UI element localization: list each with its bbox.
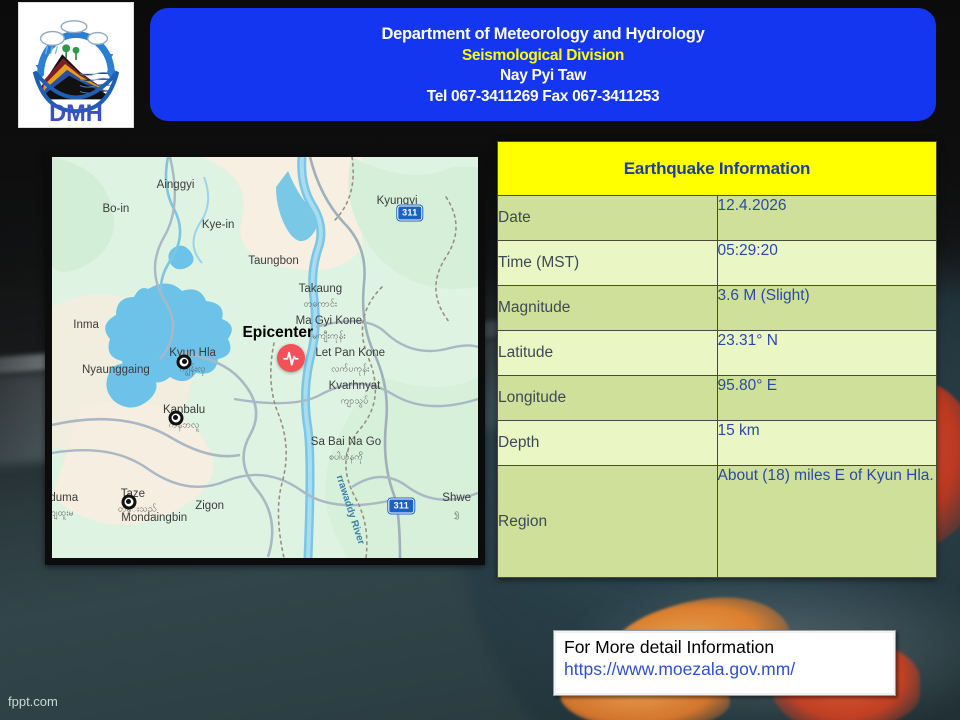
- town-marker-icon[interactable]: [177, 354, 192, 369]
- header-banner: Department of Meteorology and Hydrology …: [150, 8, 936, 121]
- info-table-title: Earthquake Information: [498, 142, 937, 196]
- info-label-date: Date: [498, 196, 718, 241]
- moezala-link[interactable]: https://www.moezala.gov.mm/: [564, 659, 795, 679]
- table-row: Latitude23.31° N: [498, 331, 937, 376]
- table-row: Longitude95.80° E: [498, 376, 937, 421]
- info-value-magnitude: 3.6 M (Slight): [717, 286, 937, 331]
- map-canvas[interactable]: Epicenter rrawaddy River AinggyiBo-inKye…: [52, 157, 478, 558]
- header-line-3: Nay Pyi Taw: [500, 68, 586, 84]
- table-row: Magnitude3.6 M (Slight): [498, 286, 937, 331]
- info-label-longitude: Longitude: [498, 376, 718, 421]
- dmh-logo-icon: DMH: [19, 3, 133, 127]
- info-label-depth: Depth: [498, 421, 718, 466]
- header-line-1: Department of Meteorology and Hydrology: [382, 26, 705, 43]
- more-info-heading: For More detail Information: [564, 637, 889, 659]
- dmh-logo: DMH: [18, 2, 134, 128]
- more-info-box[interactable]: For More detail Information https://www.…: [553, 630, 896, 696]
- slide-root: DMH Department of Meteorology and Hydrol…: [0, 0, 960, 720]
- info-value-region: About (18) miles E of Kyun Hla.: [717, 466, 937, 578]
- info-value-longitude: 95.80° E: [717, 376, 937, 421]
- earthquake-info-table: Earthquake Information Date12.4.2026Time…: [497, 141, 937, 578]
- route-shield-icon: 311: [389, 498, 414, 513]
- info-value-time-mst: 05:29:20: [717, 241, 937, 286]
- epicenter-label: Epicenter: [242, 324, 313, 342]
- town-marker-icon[interactable]: [121, 494, 136, 509]
- info-value-depth: 15 km: [717, 421, 937, 466]
- epicenter-marker[interactable]: [277, 344, 305, 372]
- header-line-2: Seismological Division: [462, 48, 624, 64]
- table-row: Time (MST)05:29:20: [498, 241, 937, 286]
- header-line-4: Tel 067-3411269 Fax 067-3411253: [427, 89, 660, 105]
- map-panel[interactable]: Epicenter rrawaddy River AinggyiBo-inKye…: [45, 150, 485, 565]
- town-marker-icon[interactable]: [168, 410, 183, 425]
- table-row: RegionAbout (18) miles E of Kyun Hla.: [498, 466, 937, 578]
- fppt-watermark: fppt.com: [8, 694, 58, 709]
- info-label-region: Region: [498, 466, 718, 578]
- info-label-magnitude: Magnitude: [498, 286, 718, 331]
- info-value-date: 12.4.2026: [717, 196, 937, 241]
- info-value-latitude: 23.31° N: [717, 331, 937, 376]
- table-row: Depth 15 km: [498, 421, 937, 466]
- info-label-time-mst: Time (MST): [498, 241, 718, 286]
- dmh-logo-caption: DMH: [49, 100, 103, 126]
- route-shield-icon: 311: [397, 206, 422, 221]
- table-row: Date12.4.2026: [498, 196, 937, 241]
- info-label-latitude: Latitude: [498, 331, 718, 376]
- seismograph-pulse-icon: [282, 349, 300, 367]
